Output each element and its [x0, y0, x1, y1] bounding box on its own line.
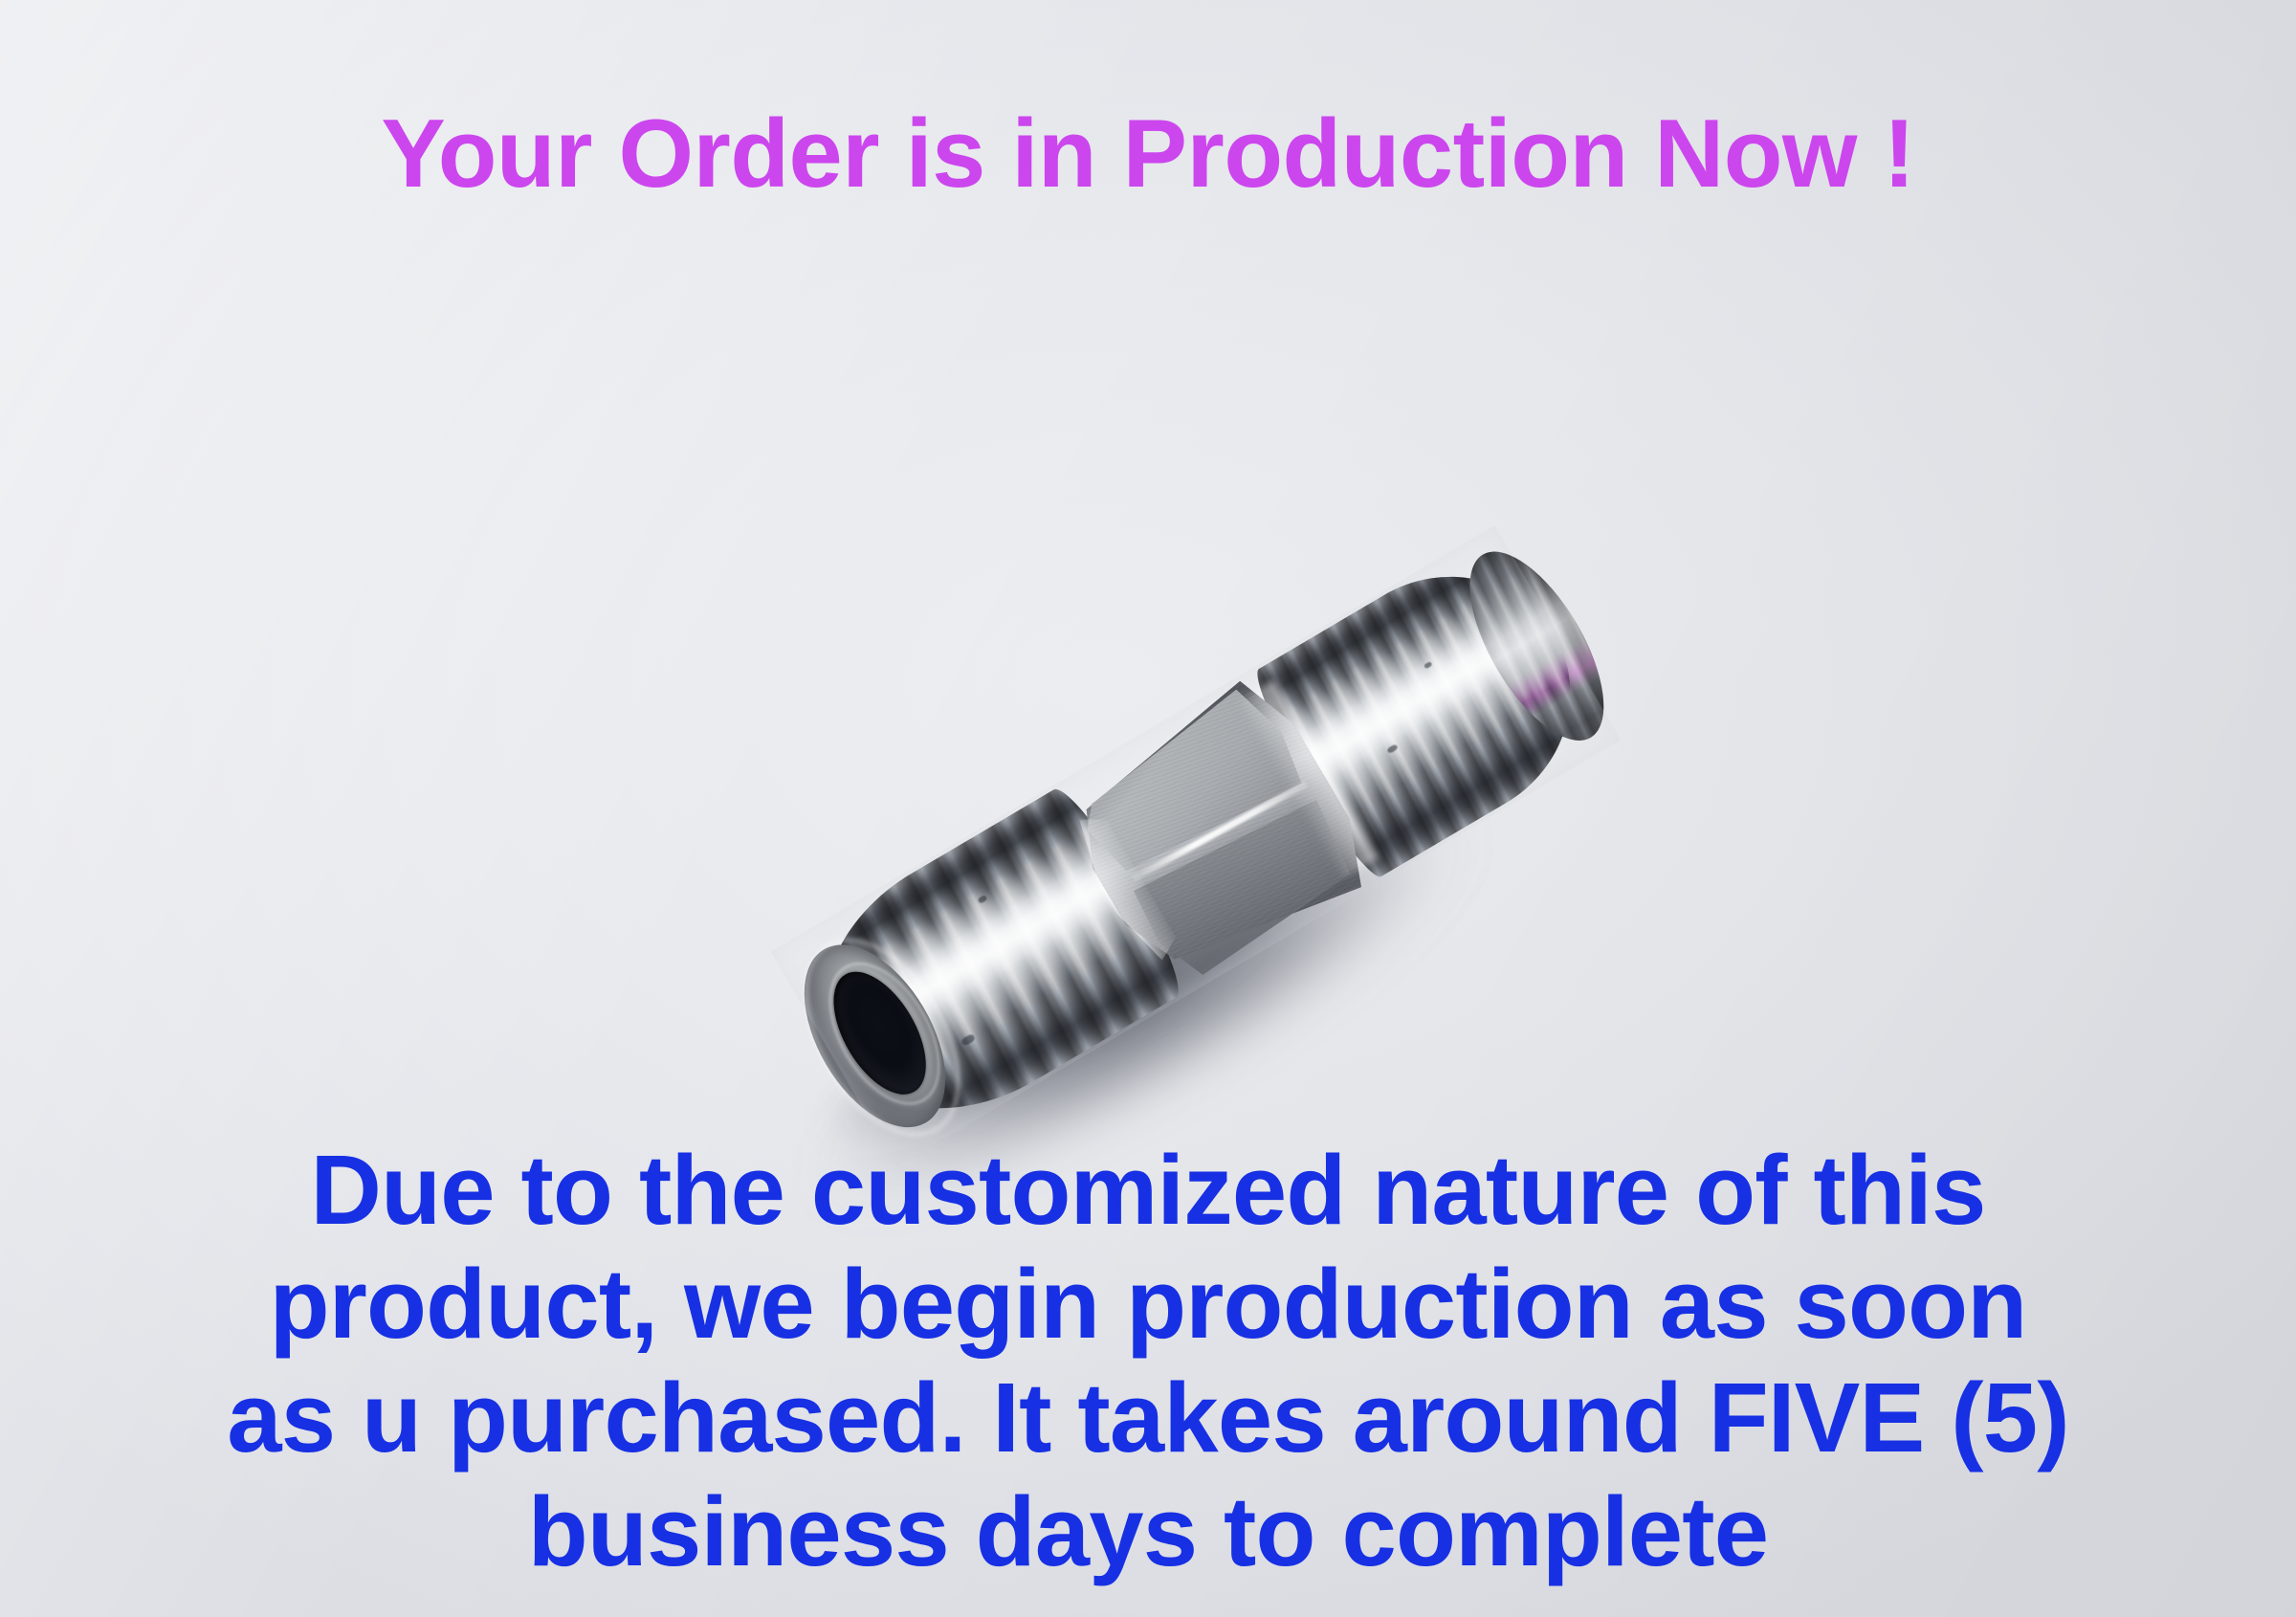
notice-line-3: as u purchased. It takes around FIVE (5): [0, 1362, 2296, 1475]
notice-line-4: business days to complete: [0, 1475, 2296, 1589]
notice-line-2: product, we begin production as soon: [0, 1248, 2296, 1362]
production-notice: Due to the customized nature of this pro…: [0, 1134, 2296, 1589]
page-title: Your Order is in Production Now !: [0, 103, 2296, 205]
notice-line-1: Due to the customized nature of this: [0, 1134, 2296, 1248]
product-photo: [737, 478, 1655, 1186]
promo-banner: Your Order is in Production Now !: [0, 0, 2296, 1617]
